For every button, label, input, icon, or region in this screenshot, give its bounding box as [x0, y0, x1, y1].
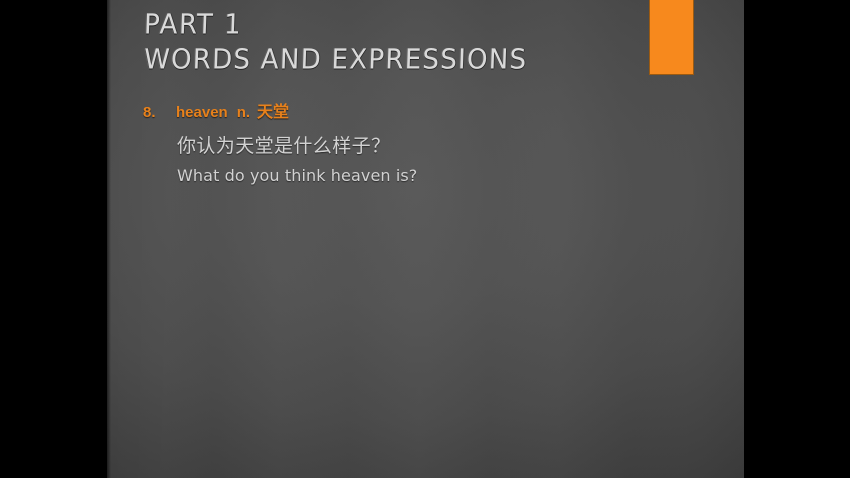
vocabulary-entry: 8.heavenn.天堂 你认为天堂是什么样子？ What do you thi…: [143, 101, 703, 191]
entry-number: 8.: [143, 102, 176, 124]
letterbox-bar-left: [0, 0, 107, 478]
entry-word: heaven: [176, 104, 228, 121]
entry-translation: 天堂: [257, 102, 289, 121]
example-question-chinese: 你认为天堂是什么样子？: [177, 131, 703, 161]
slide-left-edge-seam: [107, 0, 111, 478]
letterbox-bar-right: [744, 0, 850, 478]
entry-part-of-speech: n.: [237, 104, 250, 121]
video-player-frame: PART 1 WORDS AND EXPRESSIONS 8.heavenn.天…: [0, 0, 850, 478]
example-question-english: What do you think heaven is?: [177, 161, 703, 191]
presentation-slide: PART 1 WORDS AND EXPRESSIONS 8.heavenn.天…: [107, 0, 744, 478]
vocabulary-entry-header: 8.heavenn.天堂: [143, 101, 703, 124]
slide-title: PART 1 WORDS AND EXPRESSIONS: [144, 8, 527, 78]
title-line-subject: WORDS AND EXPRESSIONS: [143, 42, 528, 79]
orange-accent-block: [649, 0, 694, 75]
title-line-part: PART 1: [143, 7, 528, 44]
